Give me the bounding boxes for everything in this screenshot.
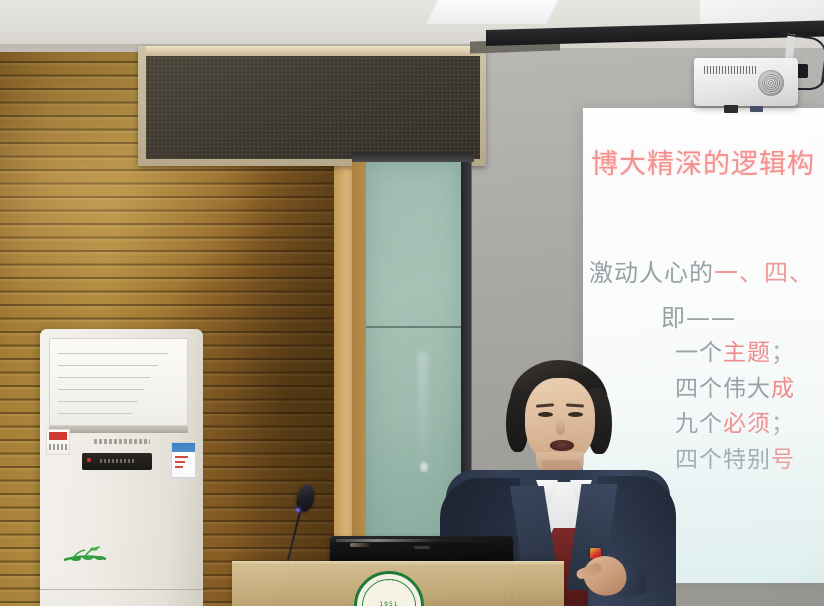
slide-bullet-1: 一个主题； bbox=[675, 336, 824, 372]
bullet-1-highlight: 主题 bbox=[723, 340, 771, 366]
ac-display-panel[interactable] bbox=[82, 453, 152, 470]
acoustic-mesh-panel bbox=[138, 46, 486, 166]
projector-foot bbox=[724, 105, 738, 113]
ac-display-readout bbox=[100, 459, 134, 463]
ac-bamboo-decal bbox=[62, 542, 124, 564]
slide-lead-highlight: 一、四、 bbox=[714, 259, 814, 287]
presenter-eye-right bbox=[568, 412, 583, 417]
ac-intake-grille bbox=[49, 338, 188, 426]
bullet-2-highlight: 成 bbox=[771, 376, 795, 402]
bamboo-leaf-icon bbox=[62, 542, 124, 564]
emblem-year: 1951 bbox=[357, 601, 421, 606]
projector-vent-grille bbox=[704, 66, 756, 74]
laptop-lid-highlight bbox=[336, 539, 504, 542]
ac-power-led-icon bbox=[87, 458, 91, 462]
air-conditioner bbox=[40, 329, 203, 606]
bullet-1-suffix: ； bbox=[771, 340, 795, 366]
slide-bullet-2: 四个伟大成 bbox=[675, 372, 824, 408]
presenter-mouth bbox=[550, 440, 574, 451]
slide-lead-prefix: 激动人心的 bbox=[589, 259, 714, 287]
mesh-panel-top-frame bbox=[146, 46, 480, 56]
slide-lead-line: 激动人心的一、四、 bbox=[589, 260, 824, 288]
podium-top-edge bbox=[232, 561, 564, 565]
glass-door-header bbox=[352, 152, 474, 162]
bullet-2-prefix: 四个伟大 bbox=[675, 376, 771, 402]
slide-lead-second: 即—— bbox=[661, 298, 736, 333]
ac-warning-sticker bbox=[46, 429, 70, 455]
presenter-eye-left bbox=[538, 412, 553, 417]
bullet-1-prefix: 一个 bbox=[675, 340, 723, 366]
glass-door-seam bbox=[366, 326, 461, 328]
laptop-lid-reflection bbox=[350, 543, 372, 547]
projector-icon bbox=[694, 58, 798, 106]
presenter-nose bbox=[556, 418, 565, 435]
glass-door-gleam bbox=[418, 352, 427, 472]
glass-door-highlight bbox=[420, 462, 428, 472]
microphone-status-led-icon bbox=[296, 508, 300, 512]
ac-base-seam bbox=[40, 589, 203, 590]
projector-lens-icon bbox=[758, 70, 784, 96]
slide-title: 博大精深的逻辑构 bbox=[591, 150, 824, 180]
ac-brand-mark bbox=[94, 439, 150, 444]
ac-energy-label bbox=[171, 442, 196, 478]
mesh-panel-fabric bbox=[146, 56, 480, 159]
skylight-panel bbox=[426, 0, 558, 24]
lecture-hall-photo: 博大精深的逻辑构 激动人心的一、四、 即—— 一个主题； 四个伟大成 九个必须；… bbox=[0, 0, 824, 606]
emblem-characters: ····· bbox=[357, 578, 421, 585]
projector-foot-secondary bbox=[750, 106, 763, 112]
laptop-latch bbox=[414, 546, 430, 549]
